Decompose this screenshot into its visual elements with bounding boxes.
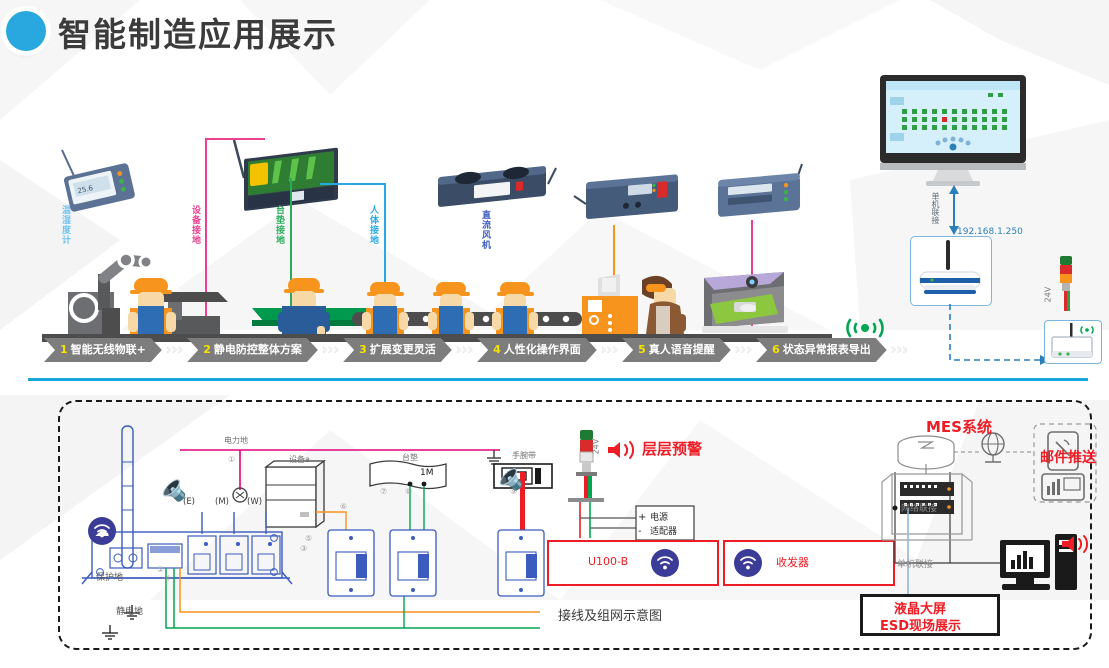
circled-num-4: ④ xyxy=(164,574,171,583)
chip-sep-1: ››› xyxy=(166,342,183,358)
chip-1-label: 智能无线物联+ xyxy=(71,343,146,356)
chip-sep-5: ››› xyxy=(735,342,752,358)
label-adapter-line2: 适配器 xyxy=(650,524,677,537)
circled-num-8: ⑧ xyxy=(405,487,412,496)
label-static-ground: 静电地 xyxy=(116,604,143,617)
wifi-glyph-transceiver xyxy=(740,556,756,570)
label-device-a: 设备a xyxy=(289,454,310,465)
banner-chip-1[interactable]: 1智能无线物联+ xyxy=(44,338,162,362)
wifi-glyph-left xyxy=(94,524,110,538)
label-mat: 台垫 xyxy=(402,452,418,463)
circled-num-2: ② xyxy=(157,565,164,574)
dc-fan-icon xyxy=(430,164,560,216)
page-title: 智能制造应用展示 xyxy=(58,8,338,56)
label-adapter-plus: + xyxy=(638,512,646,523)
chip-sep-3: ››› xyxy=(456,342,473,358)
chip-4-label: 人性化操作界面 xyxy=(504,343,581,356)
label-protective-ground: 保护地 xyxy=(96,570,123,583)
label-mes-system: MES系统 xyxy=(926,416,992,437)
wifi-glyph-u100b xyxy=(657,556,673,570)
section-divider xyxy=(28,378,1088,381)
label-lcd-line2: ESD现场展示 xyxy=(880,615,961,634)
circled-num-7: ⑦ xyxy=(380,487,387,496)
router-icon xyxy=(914,240,986,302)
chip-3-label: 扩展变更灵活 xyxy=(370,343,436,356)
chip-sep-6: ››› xyxy=(891,342,908,358)
chip-sep-2: ››› xyxy=(322,342,339,358)
diagram-caption: 接线及组网示意图 xyxy=(558,605,662,624)
circled-num-1: ① xyxy=(228,455,235,464)
factory-floor-scene xyxy=(42,230,832,342)
brand-dot-icon xyxy=(6,11,46,51)
tower-light-icon xyxy=(1052,256,1078,326)
voice-alarm-box-icon xyxy=(578,170,688,228)
chip-sep-4: ››› xyxy=(601,342,618,358)
label-network-link: 网络联接 xyxy=(901,501,937,514)
speaker-icon-alarm-glyph xyxy=(606,438,636,462)
banner-chip-5[interactable]: 5真人语音提醒 xyxy=(622,338,731,362)
router-relay-dashed-link xyxy=(946,304,1056,370)
label-port-w: (W) xyxy=(247,497,262,507)
banner-chip-6[interactable]: 6状态异常报表导出 xyxy=(756,338,887,362)
wire-body-ground-top xyxy=(320,183,384,185)
wiring-diagram-panel: ☁ 🔈 🔈 电力地 设备a 台垫 1M 手腕带 保护地 静电地 (E) (M) … xyxy=(58,400,1092,650)
speaker-icon-pc-glyph xyxy=(1060,532,1090,556)
wire-equipment-ground-top xyxy=(205,138,265,140)
circled-num-6: ⑥ xyxy=(340,502,347,511)
wireless-gateway-icon xyxy=(708,164,813,224)
label-adapter-minus: - xyxy=(638,526,642,537)
label-mat-resistor: 1M xyxy=(420,468,434,478)
label-tower-voltage-top: 24V xyxy=(1043,287,1052,303)
chip-5-num: 5 xyxy=(638,343,646,356)
label-port-e: (E) xyxy=(183,497,195,507)
banner-chip-2[interactable]: 2静电防控整体方案 xyxy=(187,338,318,362)
circled-num-9: ⑨ xyxy=(510,487,517,496)
circled-num-3: ③ xyxy=(300,544,307,553)
label-transceiver: 收发器 xyxy=(776,554,809,570)
monitor-icon xyxy=(880,75,1028,187)
chip-2-label: 静电防控整体方案 xyxy=(214,343,302,356)
label-port-m: (M) xyxy=(215,497,229,507)
label-layered-alarm: 层层预警 xyxy=(642,438,702,459)
chip-2-num: 2 xyxy=(203,343,211,356)
speaker-icon-wrist: 🔈 xyxy=(492,464,524,490)
label-adapter-line1: 电源 xyxy=(650,510,668,523)
label-mail-push: 邮件推送 xyxy=(1040,447,1096,467)
relay-receiver-icon xyxy=(1048,323,1098,361)
u100b-box[interactable] xyxy=(547,540,719,586)
chip-1-num: 1 xyxy=(60,343,68,356)
chip-3-num: 3 xyxy=(359,343,367,356)
circled-num-5: ⑤ xyxy=(305,534,312,543)
label-pc-link-top: 单机联接 xyxy=(930,192,941,224)
wiring-left-group xyxy=(70,412,570,642)
label-u100b: U100-B xyxy=(588,555,628,568)
chip-6-num: 6 xyxy=(772,343,780,356)
banner-chip-4[interactable]: 4人性化操作界面 xyxy=(477,338,597,362)
esd-controller-rack-icon xyxy=(220,138,340,208)
chip-6-label: 状态异常报表导出 xyxy=(783,343,871,356)
wifi-icon xyxy=(843,315,887,341)
chip-4-num: 4 xyxy=(493,343,501,356)
label-wrist-strap: 手腕带 xyxy=(512,450,536,461)
label-power-ground: 电力地 xyxy=(224,435,248,446)
banner-chip-3[interactable]: 3扩展变更灵活 xyxy=(343,338,452,362)
label-tower-voltage-center: 24V xyxy=(591,439,600,455)
feature-banner-row: 1智能无线物联+ ››› 2静电防控整体方案 ››› 3扩展变更灵活 ››› 4… xyxy=(44,338,834,362)
label-pc-link-bottom: 单机联接 xyxy=(897,557,933,570)
factory-illustration: 25.6 温湿度计 设备接地 台垫接地 人体接地 xyxy=(0,60,1109,370)
chip-5-label: 真人语音提醒 xyxy=(649,343,715,356)
